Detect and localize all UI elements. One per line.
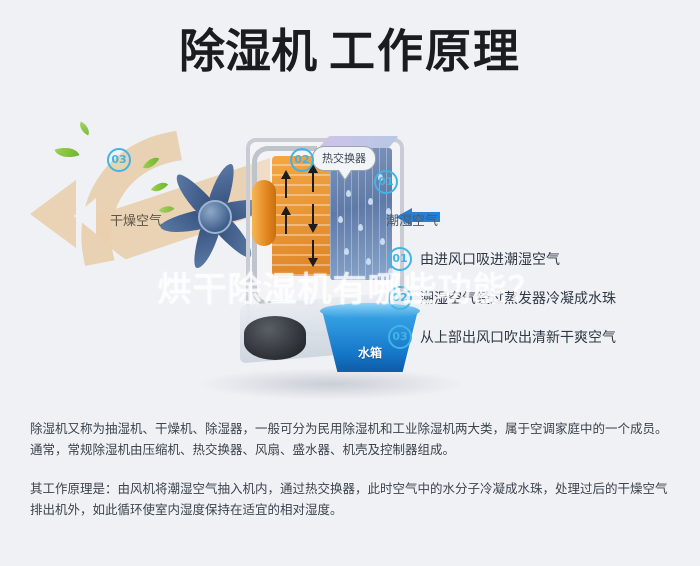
leaf-icon <box>77 121 93 135</box>
diagram-badge-03: 03 <box>107 148 131 172</box>
step-badge-02: 02 <box>388 286 412 310</box>
list-item: 01 由进风口吸进潮湿空气 <box>388 248 688 270</box>
humid-air-label: 潮湿空气 <box>386 210 438 229</box>
dry-air-label: 干燥空气 <box>110 210 162 229</box>
diagram-badge-01: 01 <box>374 170 398 194</box>
step-text-03: 从上部出风口吹出清新干爽空气 <box>420 327 616 347</box>
page-title: 除湿机工作原理 <box>0 28 700 74</box>
step-badge-01: 01 <box>388 247 412 271</box>
step-text-01: 由进风口吸进潮湿空气 <box>420 249 560 269</box>
step-badge-03: 03 <box>388 325 412 349</box>
compressor-graphic <box>244 316 306 360</box>
step-text-02: 潮湿空气经过蒸发器冷凝成水珠 <box>420 288 616 308</box>
diagram-badge-02: 02 <box>290 148 314 172</box>
unit-shadow <box>196 368 466 400</box>
body-paragraph-1: 除湿机又称为抽湿机、干燥机、除湿器，一般可分为民用除湿机和工业除湿机两大类，属于… <box>30 418 676 460</box>
article-body: 除湿机又称为抽湿机、干燥机、除湿器，一般可分为民用除湿机和工业除湿机两大类，属于… <box>30 418 676 520</box>
list-item: 02 潮湿空气经过蒸发器冷凝成水珠 <box>388 287 688 309</box>
body-paragraph-2: 其工作原理是：由风机将潮湿空气抽入机内，通过热交换器，此时空气中的水分子冷凝成水… <box>30 478 676 520</box>
process-step-list: 01 由进风口吸进潮湿空气 02 潮湿空气经过蒸发器冷凝成水珠 03 从上部出风… <box>388 248 688 365</box>
heat-exchanger-callout: 热交换器 <box>312 146 376 171</box>
compressor-cylinder-graphic <box>252 180 276 246</box>
page-title-secondary: 工作原理 <box>329 24 521 78</box>
infographic-page: 除湿机工作原理 <box>0 0 700 566</box>
list-item: 03 从上部出风口吹出清新干爽空气 <box>388 326 688 348</box>
page-title-primary: 除湿机 <box>179 24 317 78</box>
